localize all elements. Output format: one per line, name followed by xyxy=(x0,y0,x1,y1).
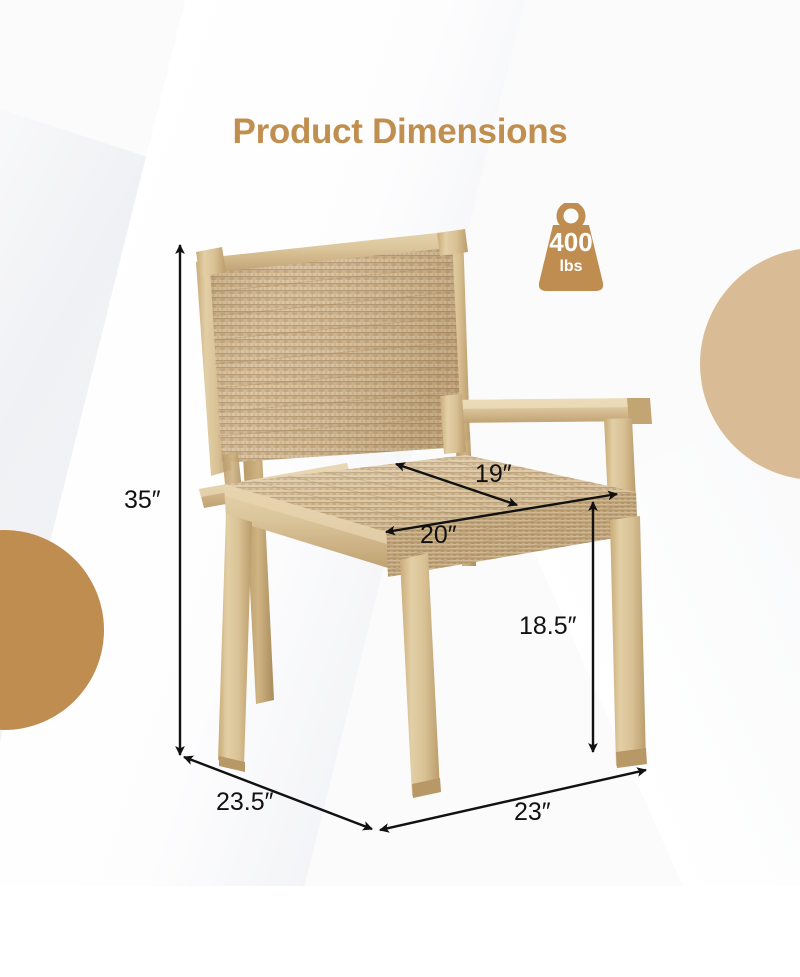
dimension-label-overall-width: 23″ xyxy=(514,798,551,827)
dimension-labels: 35″ 19″ 20″ 18.5″ 23.5″ 23″ xyxy=(0,0,800,977)
dimension-label-seat-width: 20″ xyxy=(420,521,457,550)
dimension-label-overall-height: 35″ xyxy=(124,486,161,515)
dimension-label-seat-depth: 19″ xyxy=(475,460,512,489)
dimension-label-seat-height: 18.5″ xyxy=(519,612,577,641)
dimension-label-overall-depth: 23.5″ xyxy=(216,788,274,817)
product-dimensions-infographic: Product Dimensions 400 lbs xyxy=(0,0,800,977)
